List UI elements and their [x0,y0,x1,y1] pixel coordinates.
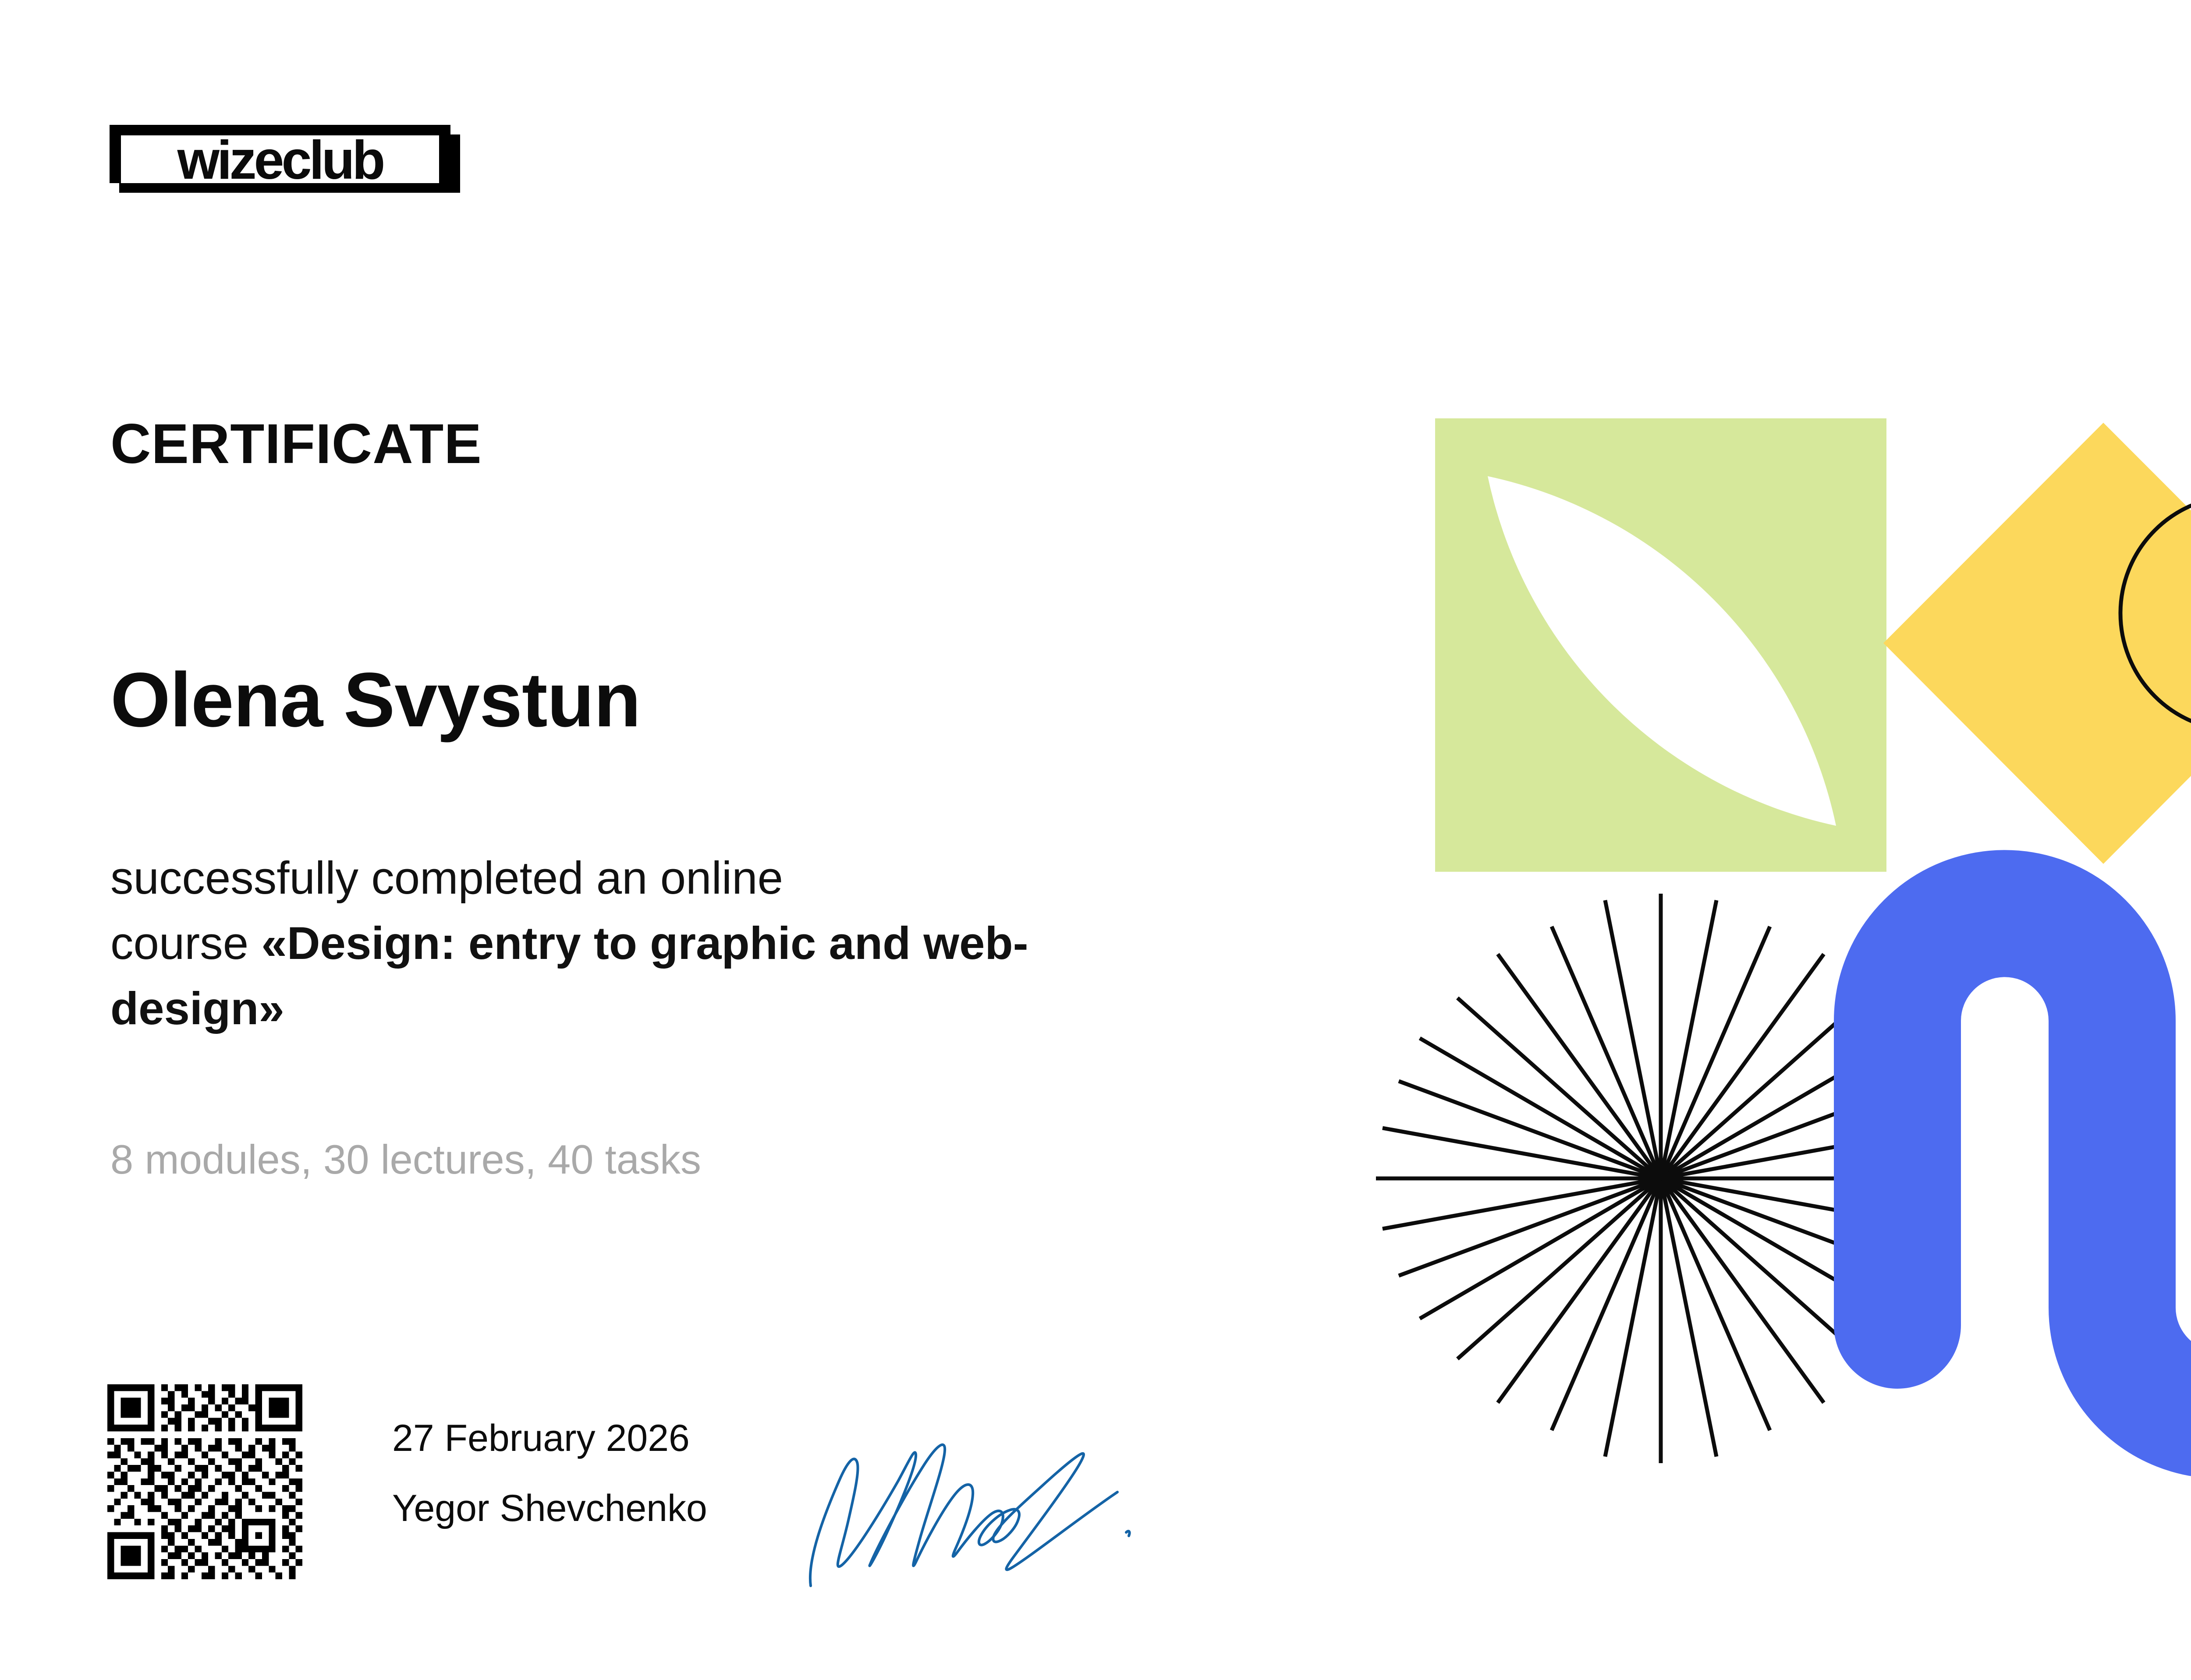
starburst-shape [1376,894,1946,1463]
verification-qr-code[interactable] [107,1384,302,1579]
course-description: successfully completed an online course … [110,845,1162,1041]
blue-wave-shape [1897,913,2191,1415]
issue-date: 27 February 2026 [392,1419,690,1457]
course-stats: 8 modules, 30 lectures, 40 tasks [110,1139,701,1180]
circle-outline-shape [2120,496,2191,731]
green-square-leaf-shape [1435,418,1886,872]
course-prefix: course [110,918,261,969]
page-title: CERTIFICATE [110,416,482,472]
brand-logo: wizeclub [110,125,460,193]
recipient-name: Olena Svystun [110,661,641,739]
logo-inner: wizeclub [121,135,439,183]
yellow-diamond-shape [1883,423,2191,864]
signature-image [793,1428,1148,1616]
certificate-page: wizeclub CERTIFICATE Olena Svystun succe… [0,0,2191,1680]
logo-wordmark: wizeclub [177,135,383,183]
completion-line: successfully completed an online [110,852,783,904]
signer-name: Yegor Shevchenko [392,1489,707,1527]
logo-frame: wizeclub [110,125,450,183]
